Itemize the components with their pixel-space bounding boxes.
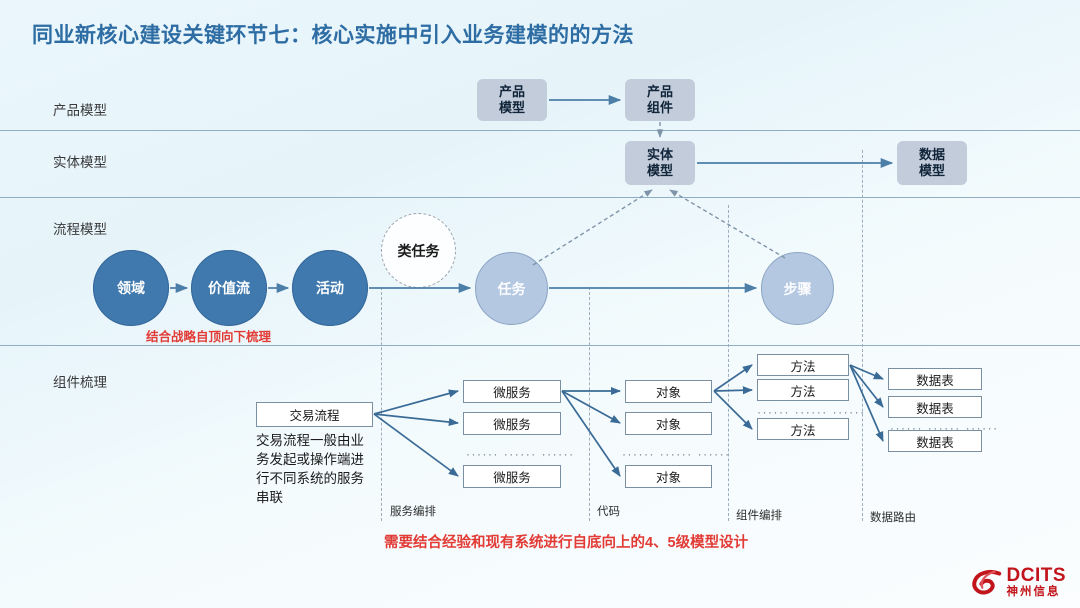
box-data-table-3-label: 数据表 [916,432,954,451]
column-separator-data [862,150,863,521]
flow-circle-step[interactable]: 步骤 [761,252,834,325]
box-data-table-2[interactable]: 数据表 [888,396,982,418]
box-data-table-2-label: 数据表 [916,398,954,417]
box-object-3[interactable]: 对象 [625,465,712,488]
model-box-data-model-line1: 数据 [919,147,945,163]
box-transaction-flow-label: 交易流程 [289,405,339,424]
model-box-data-model-line2: 模型 [919,163,945,179]
logo-cn-text: 神州信息 [1007,587,1067,599]
box-method-3-label: 方法 [790,420,815,439]
box-method-2-label: 方法 [790,381,815,400]
box-method-1-label: 方法 [790,356,815,375]
model-box-data-model[interactable]: 数据 模型 [897,141,967,185]
method-ellipsis: ······ ······ ······ [757,405,866,419]
row-label-component-breakdown: 组件梳理 [53,371,107,391]
flow-circle-domain-label: 领域 [117,278,145,298]
slide-canvas: 同业新核心建设关键环节七：核心实施中引入业务建模的的方法 产品模型 实体模型 流… [0,0,1080,608]
box-data-table-3[interactable]: 数据表 [888,430,982,452]
box-object-2-label: 对象 [656,414,681,433]
note-top-down: 结合战略自顶向下梳理 [146,326,271,345]
logo-en-text: DCITS [1007,566,1067,585]
brand-logo: DCITS 神州信息 [971,566,1067,599]
model-box-product-model-line2: 模型 [499,100,525,116]
flow-circle-activity[interactable]: 活动 [292,250,368,326]
flow-circle-task[interactable]: 任务 [475,252,548,325]
box-microservice-2[interactable]: 微服务 [463,412,561,435]
page-title: 同业新核心建设关键环节七：核心实施中引入业务建模的的方法 [32,19,634,49]
column-separator-code [589,287,590,521]
box-method-1[interactable]: 方法 [757,354,849,376]
divider-product-entity [0,130,1080,131]
box-object-1[interactable]: 对象 [625,380,712,403]
model-box-product-model[interactable]: 产品 模型 [477,79,547,121]
box-microservice-3[interactable]: 微服务 [463,465,561,488]
row-label-product-model: 产品模型 [53,99,107,119]
column-caption-component-orchestration: 组件编排 [736,507,782,523]
box-microservice-1-label: 微服务 [493,382,531,401]
box-method-3[interactable]: 方法 [757,418,849,440]
box-method-2[interactable]: 方法 [757,379,849,401]
transaction-flow-description: 交易流程一般由业务发起或操作端进行不同系统的服务串联 [256,431,374,507]
flow-circle-step-label: 步骤 [784,279,812,299]
flow-circle-domain[interactable]: 领域 [93,250,169,326]
column-separator-component [728,205,729,521]
flow-circle-value-stream-label: 价值流 [208,278,250,298]
box-microservice-1[interactable]: 微服务 [463,380,561,403]
column-separator-service [381,287,382,521]
model-box-product-component-line2: 组件 [647,100,673,116]
row-label-entity-model: 实体模型 [53,151,107,171]
box-object-1-label: 对象 [656,382,681,401]
divider-entity-process [0,197,1080,198]
box-object-3-label: 对象 [656,467,681,486]
microservice-ellipsis: ······ ······ ······ [466,447,575,461]
model-box-entity-model-line1: 实体 [647,147,673,163]
column-caption-service-orchestration: 服务编排 [390,503,436,519]
model-box-product-component-line1: 产品 [647,84,673,100]
box-data-table-1[interactable]: 数据表 [888,368,982,390]
flow-circle-class-task[interactable]: 类任务 [381,213,456,288]
flow-circle-value-stream[interactable]: 价值流 [191,250,267,326]
model-box-entity-model[interactable]: 实体 模型 [625,141,695,185]
column-caption-code: 代码 [597,503,620,519]
model-box-entity-model-line2: 模型 [647,163,673,179]
box-microservice-3-label: 微服务 [493,467,531,486]
flow-circle-task-label: 任务 [498,279,526,299]
flow-circle-class-task-label: 类任务 [398,241,440,261]
object-ellipsis: ······ ······ ······ [622,447,731,461]
box-object-2[interactable]: 对象 [625,412,712,435]
flow-circle-activity-label: 活动 [316,278,344,298]
model-box-product-model-line1: 产品 [499,84,525,100]
model-box-product-component[interactable]: 产品 组件 [625,79,695,121]
box-transaction-flow[interactable]: 交易流程 [256,402,373,427]
row-label-process-model: 流程模型 [53,218,107,238]
dcits-mark-icon [971,567,1001,597]
box-microservice-2-label: 微服务 [493,414,531,433]
divider-process-component [0,345,1080,346]
box-data-table-1-label: 数据表 [916,370,954,389]
column-caption-data-routing: 数据路由 [870,509,916,525]
note-bottom-up: 需要结合经验和现有系统进行自底向上的4、5级模型设计 [384,531,748,552]
